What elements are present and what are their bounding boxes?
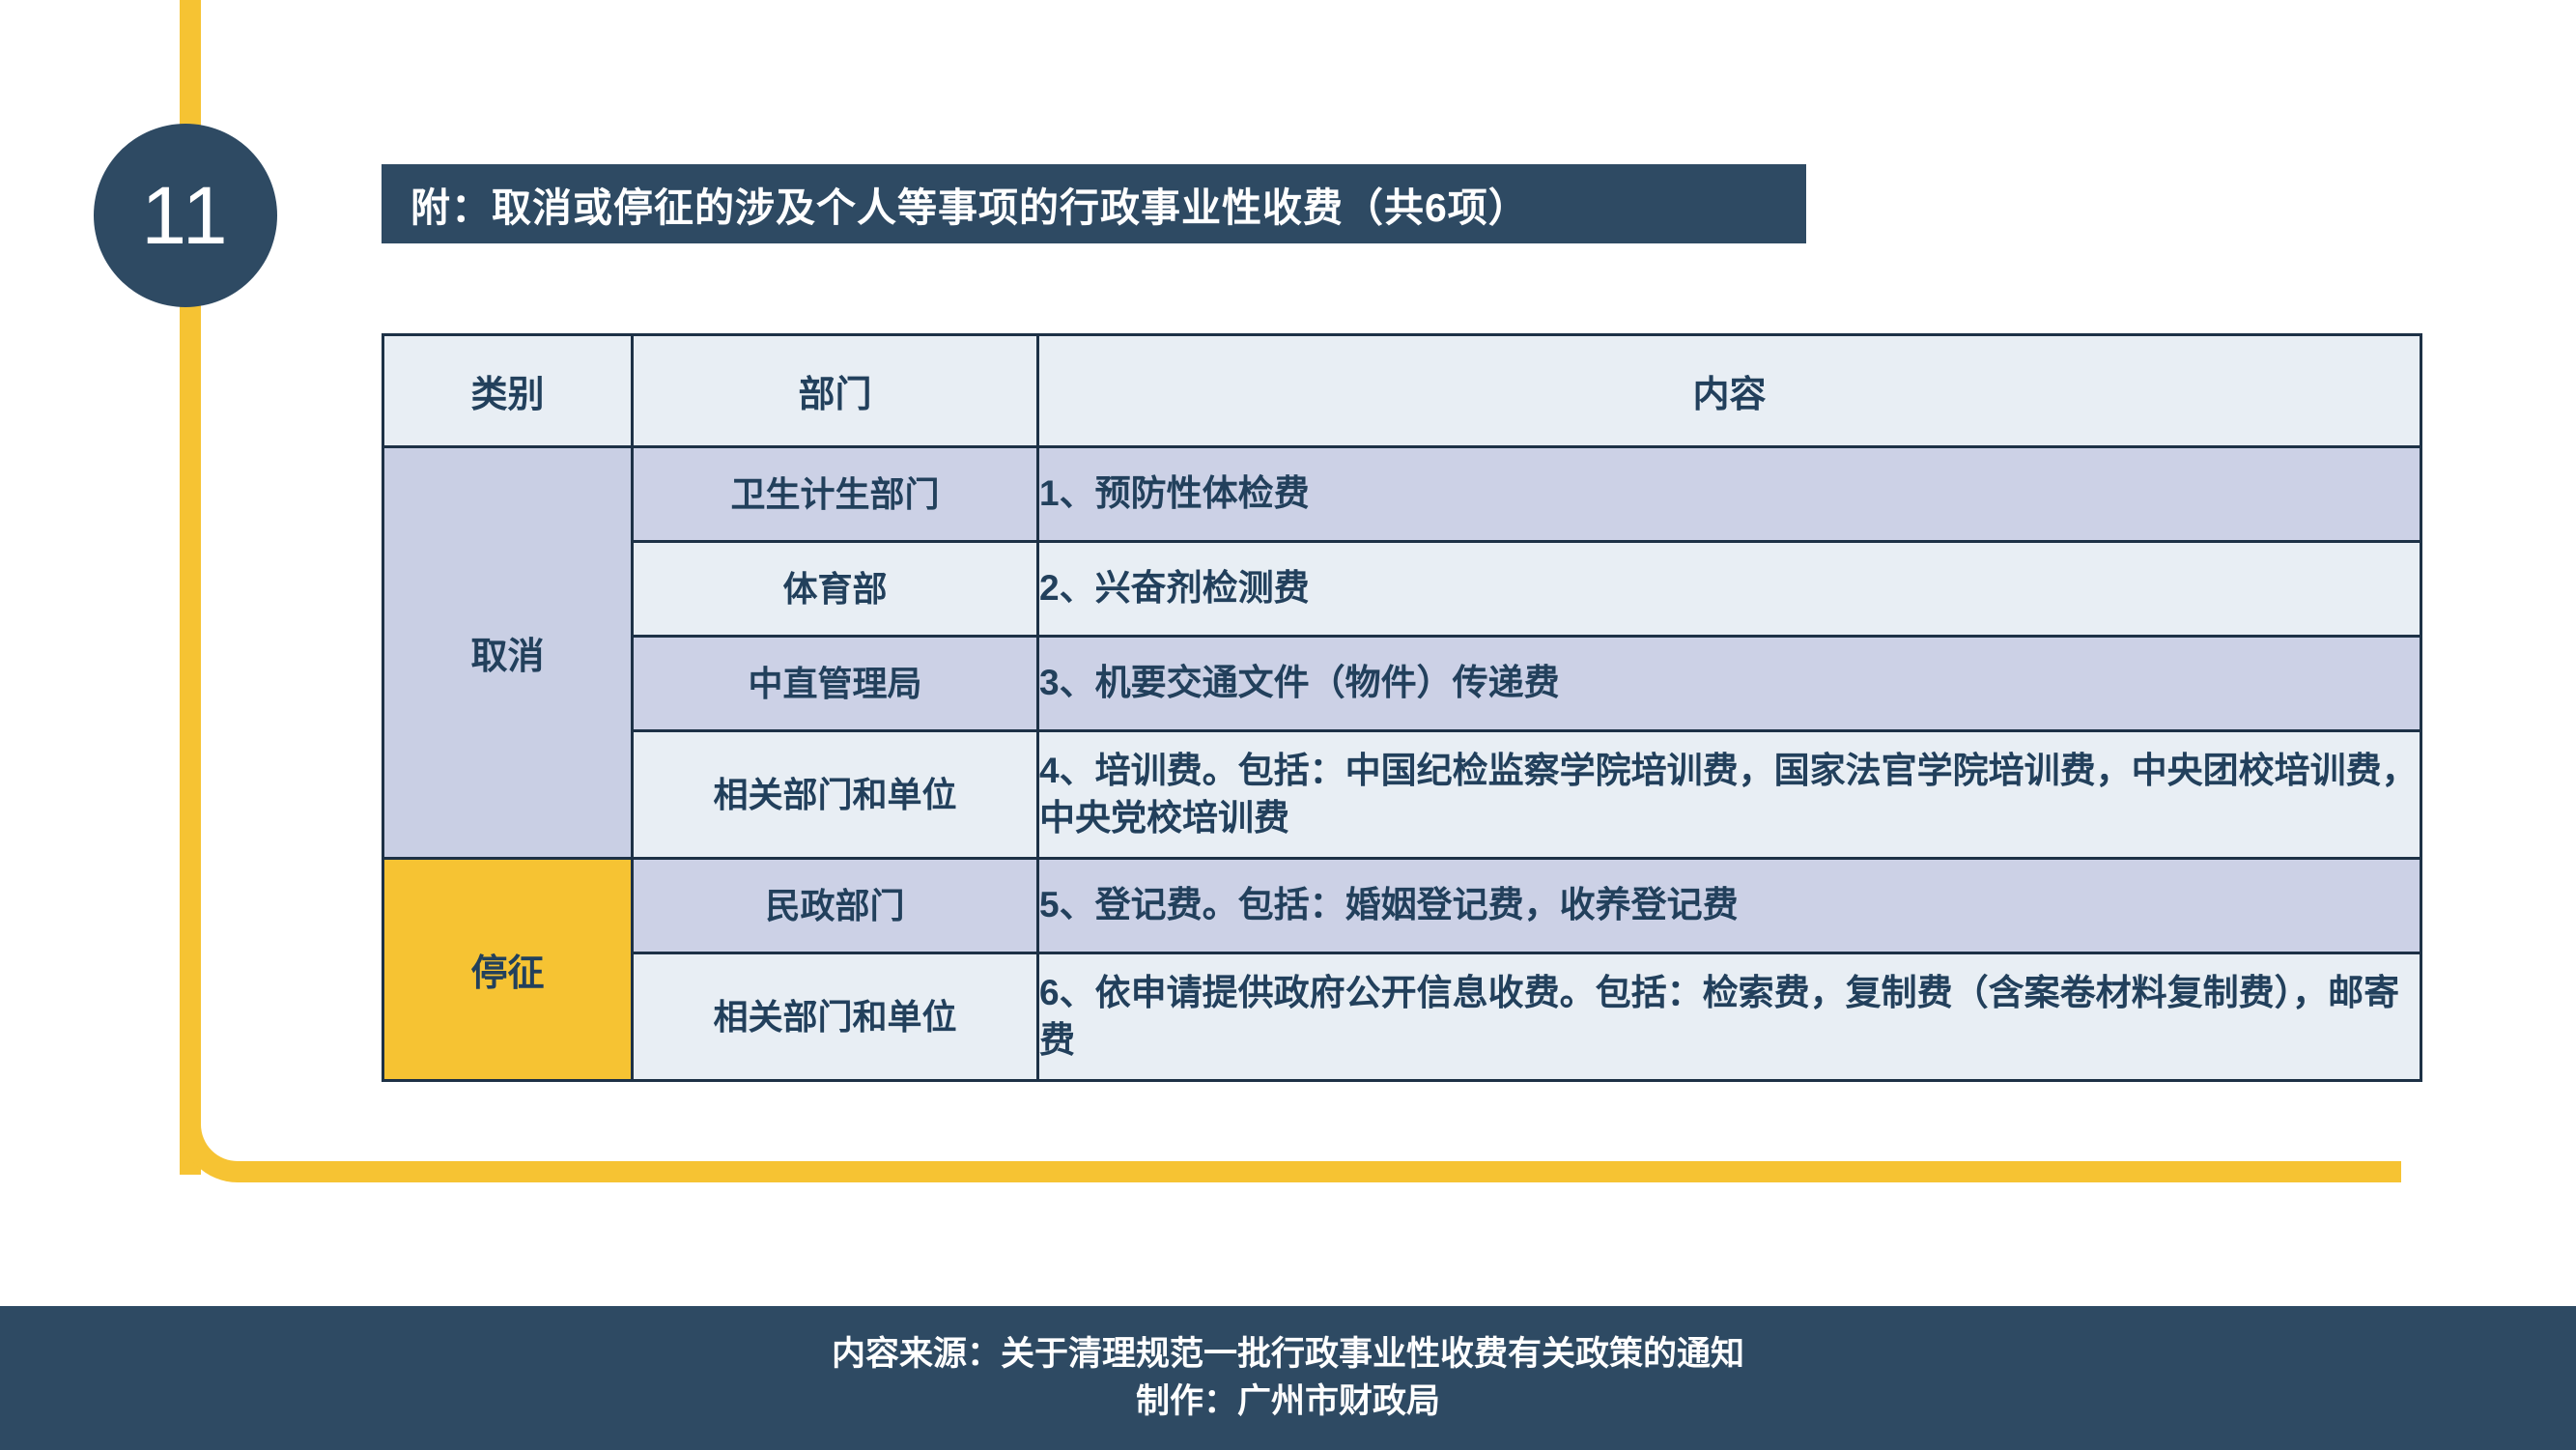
table-row: 中直管理局3、机要交通文件（物件）传递费 bbox=[383, 637, 2421, 731]
table-row: 取消卫生计生部门1、预防性体检费 bbox=[383, 447, 2421, 542]
department-cell: 中直管理局 bbox=[633, 637, 1038, 731]
department-cell: 体育部 bbox=[633, 542, 1038, 637]
content-cell: 4、培训费。包括：中国纪检监察学院培训费，国家法官学院培训费，中央团校培训费，中… bbox=[1038, 731, 2421, 859]
table-header: 类别 部门 内容 bbox=[383, 335, 2421, 447]
page-number-badge: 11 bbox=[94, 124, 277, 307]
category-cell: 停征 bbox=[383, 859, 633, 1081]
column-header-content: 内容 bbox=[1038, 335, 2421, 447]
category-cell: 取消 bbox=[383, 447, 633, 859]
column-header-category: 类别 bbox=[383, 335, 633, 447]
fee-table: 类别 部门 内容 取消卫生计生部门1、预防性体检费体育部2、兴奋剂检测费中直管理… bbox=[382, 333, 2422, 1082]
content-cell: 3、机要交通文件（物件）传递费 bbox=[1038, 637, 2421, 731]
content-cell: 6、依申请提供政府公开信息收费。包括：检索费，复制费（含案卷材料复制费），邮寄费 bbox=[1038, 953, 2421, 1081]
department-cell: 相关部门和单位 bbox=[633, 953, 1038, 1081]
content-cell: 5、登记费。包括：婚姻登记费，收养登记费 bbox=[1038, 859, 2421, 953]
table-header-row: 类别 部门 内容 bbox=[383, 335, 2421, 447]
department-cell: 卫生计生部门 bbox=[633, 447, 1038, 542]
page-title: 附：取消或停征的涉及个人等事项的行政事业性收费（共6项） bbox=[382, 175, 1529, 233]
page-number-label: 11 bbox=[141, 175, 229, 256]
slide-canvas: 11 附：取消或停征的涉及个人等事项的行政事业性收费（共6项） 类别 部门 内容… bbox=[0, 0, 2576, 1450]
slide-title-bar: 附：取消或停征的涉及个人等事项的行政事业性收费（共6项） bbox=[382, 164, 1806, 243]
department-cell: 相关部门和单位 bbox=[633, 731, 1038, 859]
content-cell: 1、预防性体检费 bbox=[1038, 447, 2421, 542]
table-row: 相关部门和单位4、培训费。包括：中国纪检监察学院培训费，国家法官学院培训费，中央… bbox=[383, 731, 2421, 859]
department-cell: 民政部门 bbox=[633, 859, 1038, 953]
bracket-rounded-corner bbox=[180, 1101, 261, 1182]
column-header-department: 部门 bbox=[633, 335, 1038, 447]
footer-author-line: 制作：广州市财政局 bbox=[1136, 1379, 1440, 1425]
bracket-horizontal-line bbox=[255, 1161, 2401, 1182]
table-row: 停征民政部门5、登记费。包括：婚姻登记费，收养登记费 bbox=[383, 859, 2421, 953]
content-cell: 2、兴奋剂检测费 bbox=[1038, 542, 2421, 637]
table-row: 相关部门和单位6、依申请提供政府公开信息收费。包括：检索费，复制费（含案卷材料复… bbox=[383, 953, 2421, 1081]
footer-source-line: 内容来源：关于清理规范一批行政事业性收费有关政策的通知 bbox=[832, 1331, 1744, 1378]
slide-footer: 内容来源：关于清理规范一批行政事业性收费有关政策的通知 制作：广州市财政局 bbox=[0, 1306, 2576, 1450]
table-body: 取消卫生计生部门1、预防性体检费体育部2、兴奋剂检测费中直管理局3、机要交通文件… bbox=[383, 447, 2421, 1081]
table-row: 体育部2、兴奋剂检测费 bbox=[383, 542, 2421, 637]
